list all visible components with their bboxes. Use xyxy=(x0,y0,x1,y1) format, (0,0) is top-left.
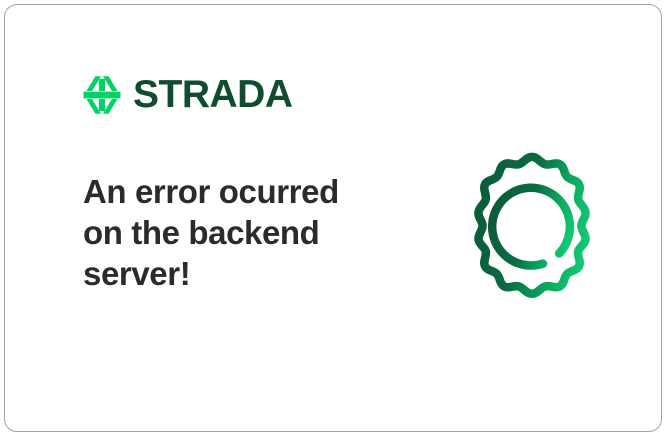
brand-logo: STRADA xyxy=(82,75,293,115)
error-card: STRADA An error ocurred on the backend s… xyxy=(4,4,662,432)
strada-asterisk-icon xyxy=(82,75,122,115)
gear-inner-circle xyxy=(492,188,570,266)
error-screen: STRADA An error ocurred on the backend s… xyxy=(0,0,666,436)
brand-name: STRADA xyxy=(133,75,293,115)
error-message: An error ocurred on the backend server! xyxy=(83,171,383,294)
gear-cog-icon xyxy=(451,147,613,311)
